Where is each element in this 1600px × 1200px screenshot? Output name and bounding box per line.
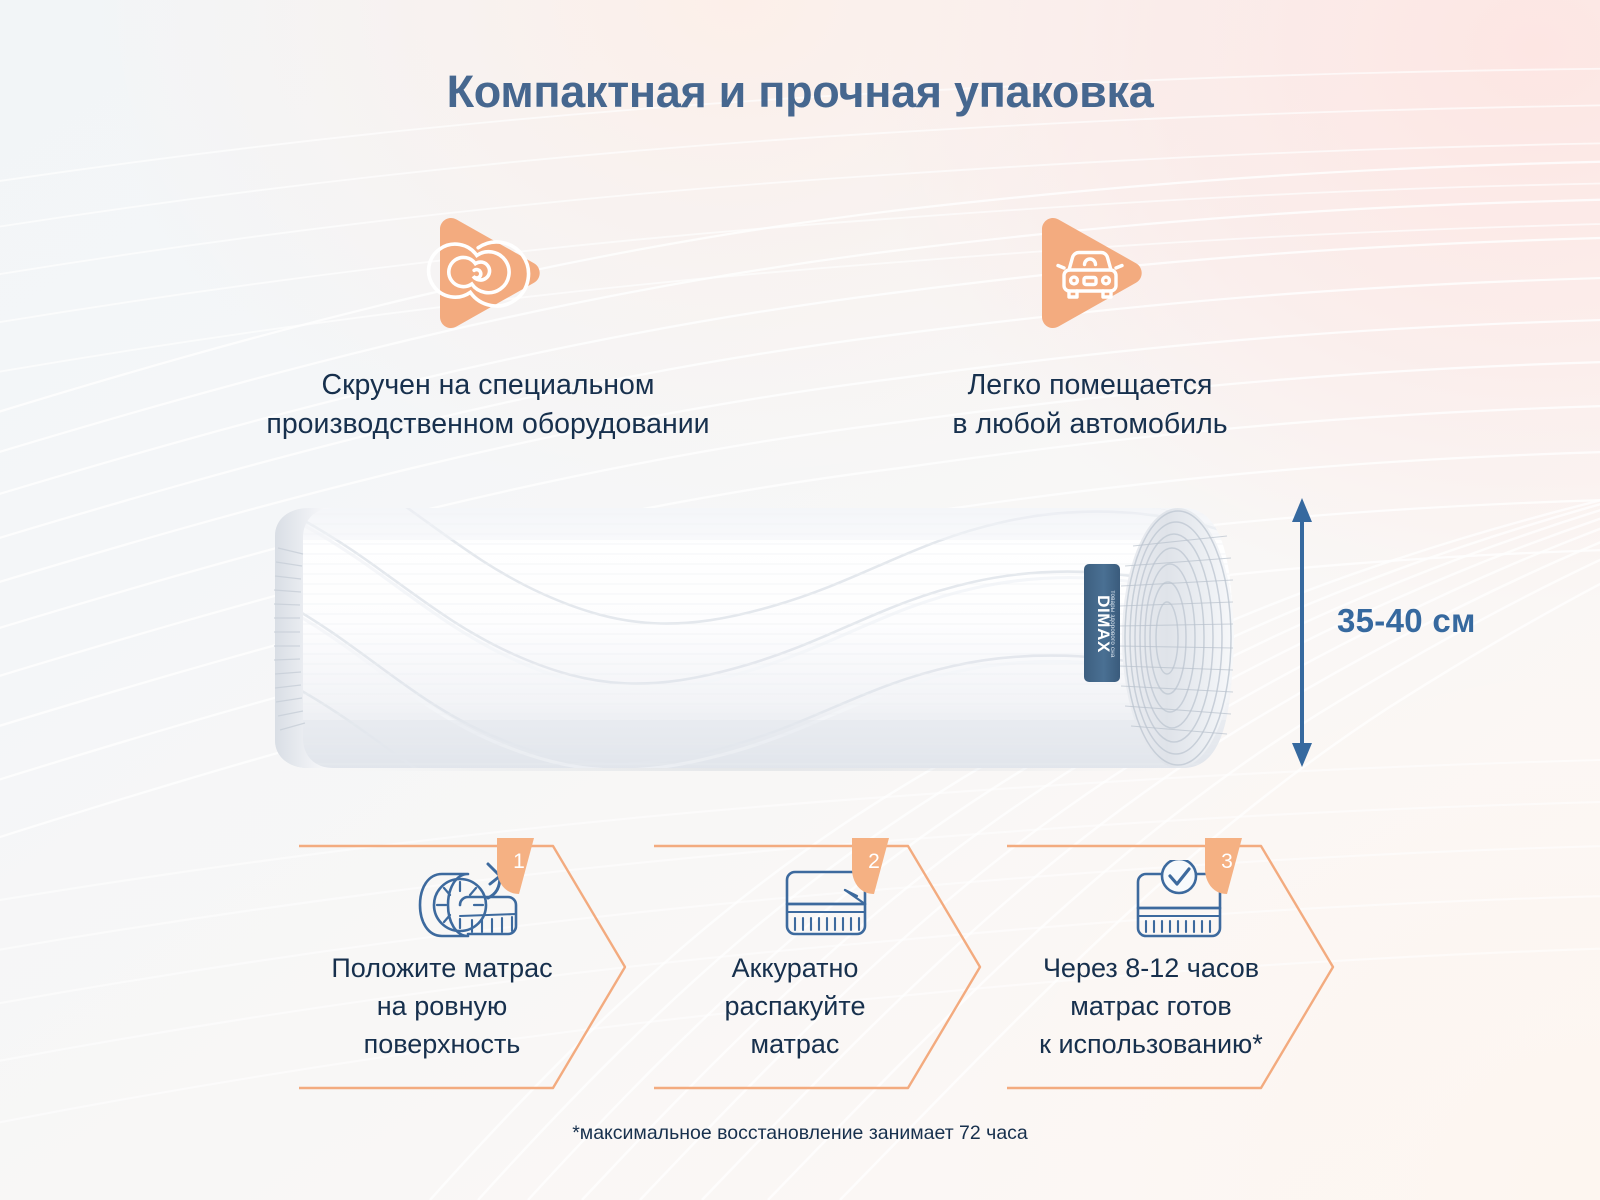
- page-title: Компактная и прочная упаковка: [0, 66, 1600, 118]
- vertical-double-arrow-icon: [1285, 495, 1345, 770]
- dimax-brand-tag: DIMAX товары здорового сна: [1084, 564, 1120, 682]
- dimax-tagline: товары здорового сна: [1109, 591, 1116, 658]
- step-caption: Положите матрас на ровную поверхность: [297, 950, 587, 1063]
- feature-icon-badge-spiral: [413, 198, 563, 348]
- feature-rolled-on-equipment: Скручен на специальном производственном …: [228, 198, 748, 445]
- dimension-label: 35-40 см: [1337, 602, 1476, 640]
- feature-caption: Легко помещается в любой автомобиль: [900, 366, 1280, 445]
- step-card-3: Через 8-12 часов матрас готов к использо…: [1003, 838, 1355, 1096]
- feature-icon-badge-car: [1015, 198, 1165, 348]
- rolled-mattress-image: DIMAX товары здорового сна: [183, 506, 1263, 771]
- step-caption: Через 8-12 часов матрас готов к использо…: [991, 950, 1311, 1063]
- step-number: 3: [1205, 840, 1249, 896]
- step-number: 1: [497, 840, 541, 896]
- triangle-badge-shape: [1042, 218, 1142, 328]
- dimension-indicator: 35-40 см: [1285, 495, 1585, 770]
- feature-caption: Скручен на специальном производственном …: [228, 366, 748, 445]
- footnote-text: *максимальное восстановление занимает 72…: [0, 1122, 1600, 1145]
- step-number: 2: [852, 840, 896, 896]
- step-caption: Аккуратно распакуйте матрас: [650, 950, 940, 1063]
- steps-row: Положите матрас на ровную поверхность 1: [0, 838, 1600, 1096]
- step-card-1: Положите матрас на ровную поверхность 1: [295, 838, 647, 1096]
- feature-fits-in-car: Легко помещается в любой автомобиль: [900, 198, 1280, 445]
- infographic-canvas: Компактная и прочная упаковка Скручен на…: [0, 0, 1600, 1200]
- step-card-2: Аккуратно распакуйте матрас 2: [650, 838, 1002, 1096]
